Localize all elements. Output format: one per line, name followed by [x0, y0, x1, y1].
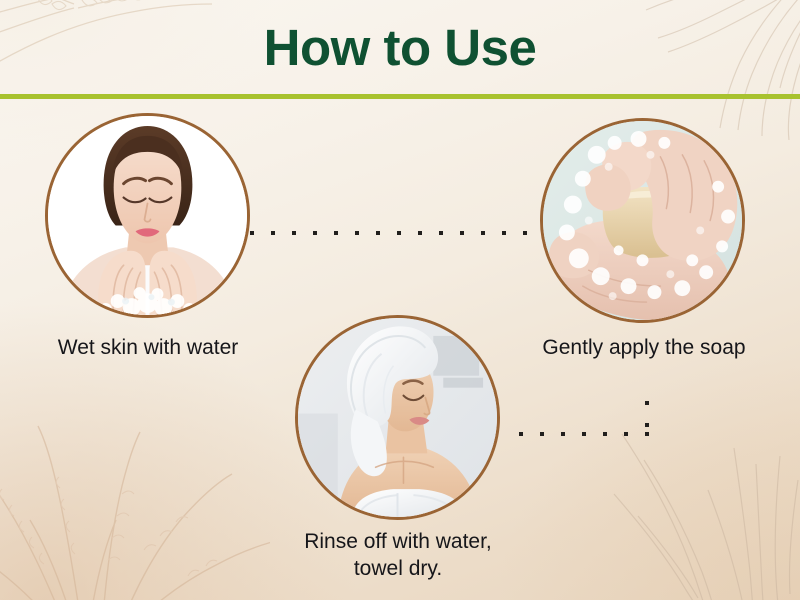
- connector-dot: [624, 432, 628, 436]
- aloe-vera-icon: [0, 370, 270, 600]
- connector-dot: [355, 231, 359, 235]
- connector-dot: [603, 432, 607, 436]
- connector-dot: [519, 432, 523, 436]
- connector-dot: [561, 432, 565, 436]
- step-1-image[interactable]: [45, 113, 250, 318]
- step-3-image[interactable]: [295, 315, 500, 520]
- infographic-canvas: How to Use: [0, 0, 800, 600]
- connector-dot: [540, 432, 544, 436]
- title-divider: [0, 94, 800, 99]
- connector-dot: [481, 231, 485, 235]
- step-2-caption: Gently apply the soap: [538, 334, 750, 361]
- step-2-image[interactable]: [540, 118, 745, 323]
- connector-dot: [250, 231, 254, 235]
- connector-dot: [397, 231, 401, 235]
- connector-dot: [376, 231, 380, 235]
- connector-dot: [334, 231, 338, 235]
- connector-dot: [460, 231, 464, 235]
- connector-dot: [418, 231, 422, 235]
- connector-dot: [292, 231, 296, 235]
- connector-dot: [523, 231, 527, 235]
- connector-dot: [645, 432, 649, 436]
- connector-dot: [439, 231, 443, 235]
- grass-blade-icon: [584, 420, 800, 600]
- connector-dot: [502, 231, 506, 235]
- connector-dot: [313, 231, 317, 235]
- page-title: How to Use: [0, 20, 800, 76]
- connector-dot: [645, 401, 649, 405]
- connector-dot: [645, 423, 649, 427]
- background-wash-bottom-right: [500, 360, 800, 600]
- connector-dot: [271, 231, 275, 235]
- connector-dot: [582, 432, 586, 436]
- step-1-caption: Wet skin with water: [42, 334, 254, 361]
- step-3-caption: Rinse off with water, towel dry.: [288, 528, 508, 582]
